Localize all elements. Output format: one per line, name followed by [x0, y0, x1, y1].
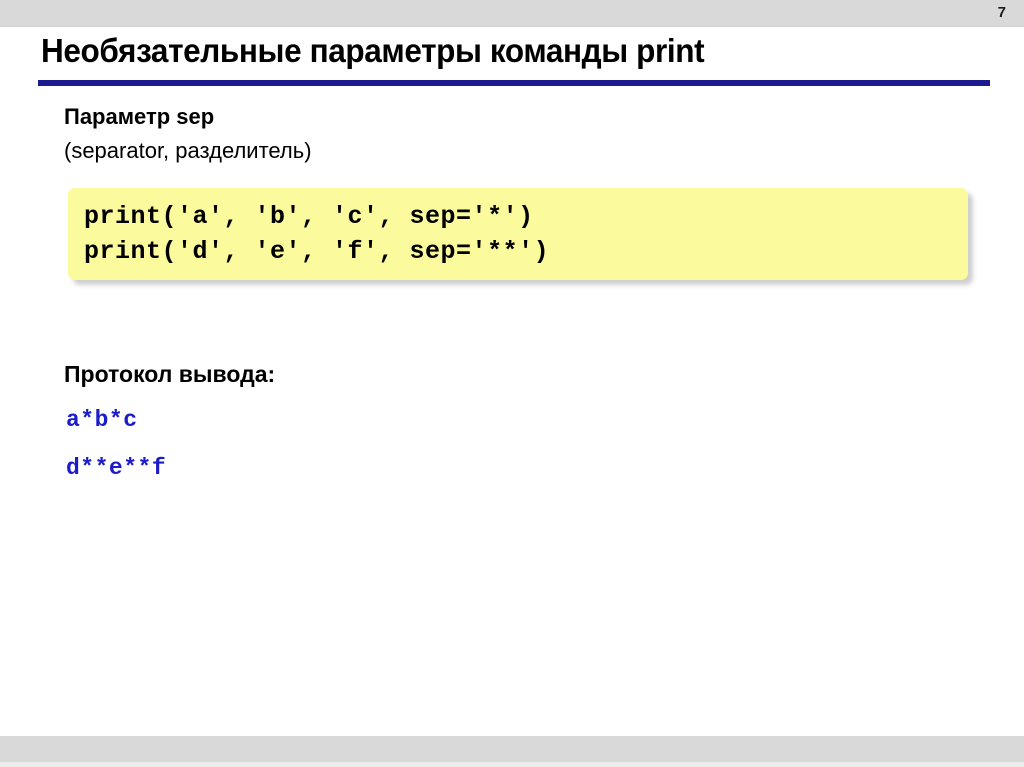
- bottom-chrome-bar: [0, 736, 1024, 762]
- title-underline-rule: [38, 80, 990, 86]
- top-chrome-bar: 7: [0, 0, 1024, 27]
- slide-number: 7: [998, 1, 1006, 25]
- code-line: print('a', 'b', 'c', sep='*'): [84, 199, 968, 234]
- code-block: print('a', 'b', 'c', sep='*') print('d',…: [68, 188, 968, 280]
- output-heading: Протокол вывода:: [64, 361, 275, 388]
- output-line: d**e**f: [66, 455, 166, 481]
- bottom-chrome-edge: [0, 762, 1024, 767]
- slide-canvas: Необязательные параметры команды print П…: [0, 28, 1024, 736]
- code-line: print('d', 'e', 'f', sep='**'): [84, 234, 968, 269]
- page-title: Необязательные параметры команды print: [41, 32, 958, 70]
- output-line: a*b*c: [66, 407, 138, 433]
- section-subheading: (separator, разделитель): [64, 138, 312, 164]
- section-heading: Параметр sep: [64, 104, 214, 130]
